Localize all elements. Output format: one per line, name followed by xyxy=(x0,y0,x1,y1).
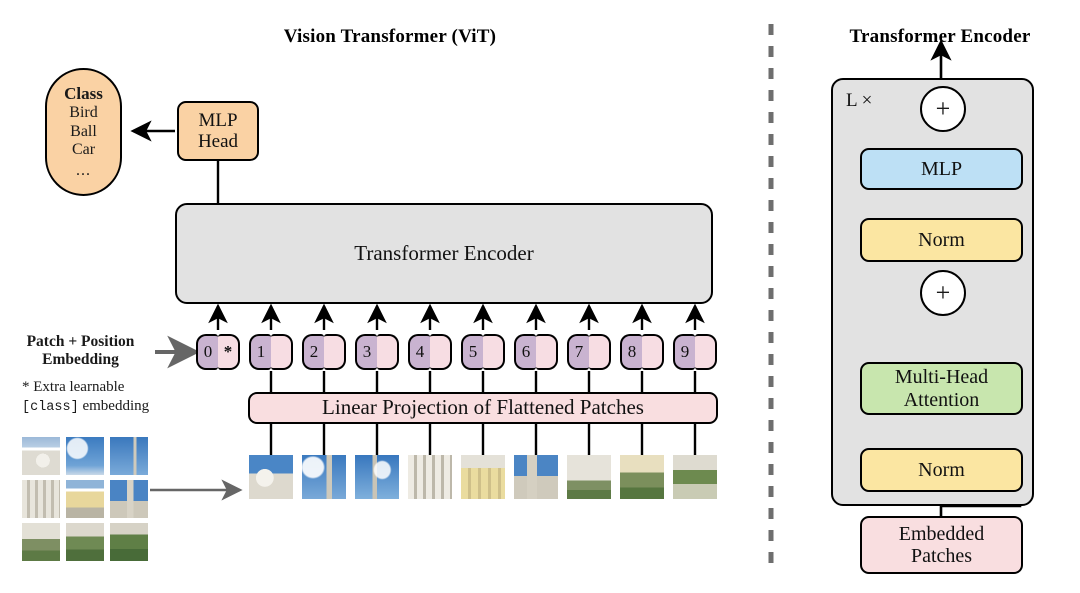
class-item-car: Car xyxy=(72,141,95,160)
repeat-count-label: L × xyxy=(846,90,872,112)
footnote-line2: [class] embedding xyxy=(22,397,187,417)
transformer-encoder-bar: Transformer Encoder xyxy=(175,203,713,304)
source-patch-r2c3 xyxy=(110,480,148,518)
mlp-head-box: MLP Head xyxy=(177,101,259,161)
flattened-patch-2 xyxy=(302,455,346,499)
token-8-index: 8 xyxy=(620,334,642,370)
source-patch-r3c2 xyxy=(66,523,104,561)
flattened-patch-3 xyxy=(355,455,399,499)
residual-add-bottom: + xyxy=(920,270,966,316)
source-patch-r2c1 xyxy=(22,480,60,518)
source-image-grid xyxy=(22,437,148,561)
class-box-header: Class xyxy=(64,84,103,104)
token-2-index: 2 xyxy=(302,334,324,370)
token-1-index: 1 xyxy=(249,334,271,370)
token-0-index: 0 xyxy=(196,334,218,370)
residual-add-bottom-symbol: + xyxy=(936,280,951,306)
class-box-ellipsis: ... xyxy=(76,162,91,181)
token-6-position xyxy=(536,334,558,370)
vit-diagram-canvas: Vision Transformer (ViT) Class Bird Ball… xyxy=(0,0,1080,593)
source-patch-r3c1 xyxy=(22,523,60,561)
token-3-index: 3 xyxy=(355,334,377,370)
flattened-patch-9 xyxy=(673,455,717,499)
token-4-index: 4 xyxy=(408,334,430,370)
source-patch-r1c1 xyxy=(22,437,60,475)
embedded-patches-line2: Patches xyxy=(911,545,972,567)
token-4-position xyxy=(430,334,452,370)
encoder-attention-line1: Multi-Head xyxy=(895,366,988,388)
token-1-position xyxy=(271,334,293,370)
footnote-line2-rest: embedding xyxy=(79,398,149,414)
flattened-patch-8 xyxy=(620,455,664,499)
left-panel-title: Vision Transformer (ViT) xyxy=(180,26,600,48)
linear-projection-label: Linear Projection of Flattened Patches xyxy=(322,396,644,420)
token-3[interactable]: 3 xyxy=(355,334,399,370)
transformer-encoder-bar-label: Transformer Encoder xyxy=(354,242,533,266)
token-8[interactable]: 8 xyxy=(620,334,664,370)
residual-add-top-symbol: + xyxy=(936,96,951,122)
mlp-head-line1: MLP xyxy=(198,110,237,131)
token-4[interactable]: 4 xyxy=(408,334,452,370)
encoder-norm-2-label: Norm xyxy=(918,229,965,251)
token-6[interactable]: 6 xyxy=(514,334,558,370)
source-patch-r1c2 xyxy=(66,437,104,475)
embedded-patches-block: Embedded Patches xyxy=(860,516,1023,574)
patch-position-embedding-label: Patch + Position Embedding xyxy=(8,333,153,369)
token-7-index: 7 xyxy=(567,334,589,370)
mlp-head-line2: Head xyxy=(198,131,238,152)
encoder-mlp-label: MLP xyxy=(921,158,962,180)
encoder-norm-1-label: Norm xyxy=(918,459,965,481)
class-embedding-footnote: * Extra learnable [class] embedding xyxy=(22,378,187,417)
token-8-position xyxy=(642,334,664,370)
encoder-mlp-block: MLP xyxy=(860,148,1023,190)
embedding-label-line2: Embedding xyxy=(8,351,153,369)
token-5-index: 5 xyxy=(461,334,483,370)
flattened-patch-1 xyxy=(249,455,293,499)
flattened-patch-7 xyxy=(567,455,611,499)
flattened-patch-6 xyxy=(514,455,558,499)
encoder-norm-1-block: Norm xyxy=(860,448,1023,492)
flattened-patch-5 xyxy=(461,455,505,499)
token-9[interactable]: 9 xyxy=(673,334,717,370)
residual-add-top: + xyxy=(920,86,966,132)
token-9-position xyxy=(695,334,717,370)
token-0[interactable]: 0 * xyxy=(196,334,240,370)
class-item-ball: Ball xyxy=(70,123,97,142)
source-patch-r2c2 xyxy=(66,480,104,518)
class-token-mono: [class] xyxy=(22,400,79,415)
token-6-index: 6 xyxy=(514,334,536,370)
encoder-attention-block: Multi-Head Attention xyxy=(860,362,1023,415)
footnote-line1: * Extra learnable xyxy=(22,378,187,397)
token-5-position xyxy=(483,334,505,370)
right-panel-title: Transformer Encoder xyxy=(800,26,1080,48)
flattened-patch-4 xyxy=(408,455,452,499)
embedding-label-line1: Patch + Position xyxy=(8,333,153,351)
token-1[interactable]: 1 xyxy=(249,334,293,370)
class-output-box: Class Bird Ball Car ... xyxy=(45,68,122,196)
token-7-position xyxy=(589,334,611,370)
token-0-star: * xyxy=(218,334,240,370)
token-2-position xyxy=(324,334,346,370)
token-7[interactable]: 7 xyxy=(567,334,611,370)
token-2[interactable]: 2 xyxy=(302,334,346,370)
embedded-patches-line1: Embedded xyxy=(899,523,985,545)
token-3-position xyxy=(377,334,399,370)
source-patch-r1c3 xyxy=(110,437,148,475)
class-item-bird: Bird xyxy=(69,104,97,123)
linear-projection-box: Linear Projection of Flattened Patches xyxy=(248,392,718,424)
token-5[interactable]: 5 xyxy=(461,334,505,370)
encoder-attention-line2: Attention xyxy=(904,389,980,411)
source-patch-r3c3 xyxy=(110,523,148,561)
token-9-index: 9 xyxy=(673,334,695,370)
encoder-norm-2-block: Norm xyxy=(860,218,1023,262)
